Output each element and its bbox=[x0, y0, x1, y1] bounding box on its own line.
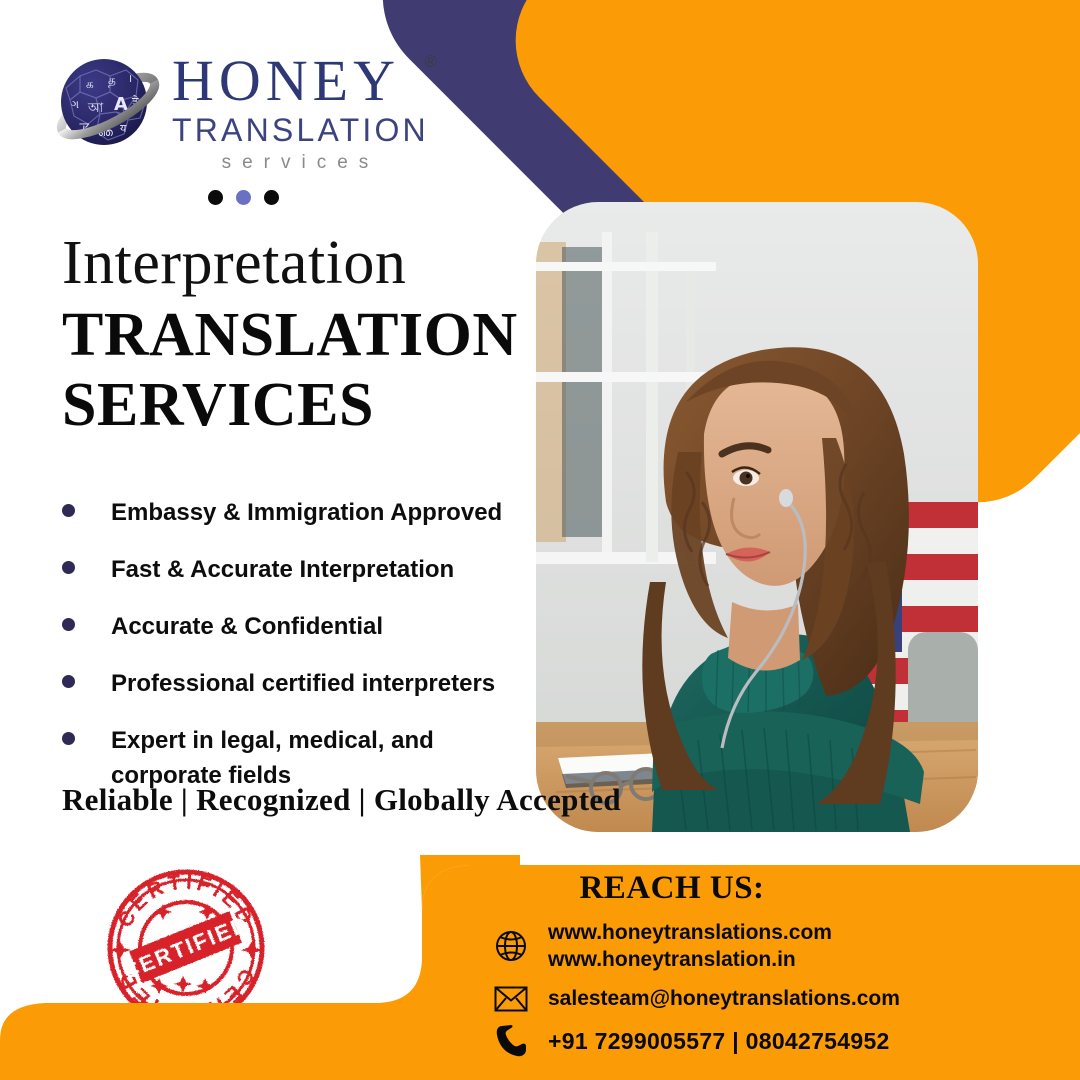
svg-text:।: । bbox=[128, 72, 132, 85]
svg-text:க: க bbox=[86, 77, 94, 91]
headline-script-line: Interpretation bbox=[62, 228, 532, 298]
website-links[interactable]: www.honeytranslations.com www.honeytrans… bbox=[548, 919, 832, 973]
feature-text: Accurate & Confidential bbox=[111, 609, 383, 644]
feature-text: Professional certified interpreters bbox=[111, 666, 495, 701]
feature-text: Fast & Accurate Interpretation bbox=[111, 552, 454, 587]
reach-us-heading: REACH US: bbox=[482, 870, 862, 907]
svg-text:ગ: ગ bbox=[71, 98, 79, 111]
headline-bold-line-2: SERVICES bbox=[62, 372, 532, 438]
list-item: Embassy & Immigration Approved bbox=[56, 495, 536, 530]
logo-primary-text: HONEY bbox=[172, 52, 429, 110]
phone-icon bbox=[490, 1024, 532, 1058]
tagline: Reliable | Recognized | Globally Accepte… bbox=[62, 782, 621, 818]
bullet-icon bbox=[62, 618, 75, 631]
brand-logo[interactable]: க த । ગ আ A ਤੇ ア ഞ य HONEY ® bbox=[52, 48, 429, 174]
headline-block: Interpretation TRANSLATION SERVICES bbox=[62, 228, 532, 438]
email-row[interactable]: salesteam@honeytranslations.com bbox=[440, 985, 1080, 1012]
bullet-icon bbox=[62, 675, 75, 688]
headline-bold-line-1: TRANSLATION bbox=[62, 302, 532, 368]
bullet-icon bbox=[62, 732, 75, 745]
svg-text:य: य bbox=[120, 122, 127, 135]
globe-languages-icon: க த । ગ আ A ਤੇ ア ഞ य bbox=[52, 48, 164, 160]
contact-info-block: REACH US: www.honeytranslations.com www.… bbox=[440, 870, 1080, 1080]
website-row[interactable]: www.honeytranslations.com www.honeytrans… bbox=[440, 919, 1080, 973]
dot-1 bbox=[208, 190, 223, 205]
envelope-icon bbox=[490, 986, 532, 1012]
bullet-icon bbox=[62, 561, 75, 574]
svg-text:த: த bbox=[108, 73, 116, 87]
logo-secondary-text: TRANSLATION bbox=[172, 112, 429, 148]
decorative-dots bbox=[208, 190, 279, 205]
feature-list: Embassy & Immigration Approved Fast & Ac… bbox=[56, 495, 536, 815]
feature-text: Embassy & Immigration Approved bbox=[111, 495, 502, 530]
logo-tertiary-text: services bbox=[172, 152, 429, 174]
bullet-icon bbox=[62, 504, 75, 517]
website-primary[interactable]: www.honeytranslations.com bbox=[548, 921, 832, 944]
list-item: Accurate & Confidential bbox=[56, 609, 536, 644]
phone-numbers[interactable]: +91 7299005577 | 08042754952 bbox=[548, 1028, 890, 1055]
phone-row[interactable]: +91 7299005577 | 08042754952 bbox=[440, 1024, 1080, 1058]
registered-trademark-icon: ® bbox=[424, 52, 437, 72]
svg-text:আ: আ bbox=[87, 101, 104, 116]
dot-2 bbox=[236, 190, 251, 205]
email-address[interactable]: salesteam@honeytranslations.com bbox=[548, 985, 900, 1012]
list-item: Professional certified interpreters bbox=[56, 666, 536, 701]
website-secondary[interactable]: www.honeytranslation.in bbox=[548, 948, 796, 971]
globe-icon bbox=[490, 929, 532, 963]
dot-3 bbox=[264, 190, 279, 205]
list-item: Fast & Accurate Interpretation bbox=[56, 552, 536, 587]
interpreter-photo bbox=[536, 202, 978, 832]
poster-canvas: க த । ગ আ A ਤੇ ア ഞ य HONEY ® bbox=[0, 0, 1080, 1080]
